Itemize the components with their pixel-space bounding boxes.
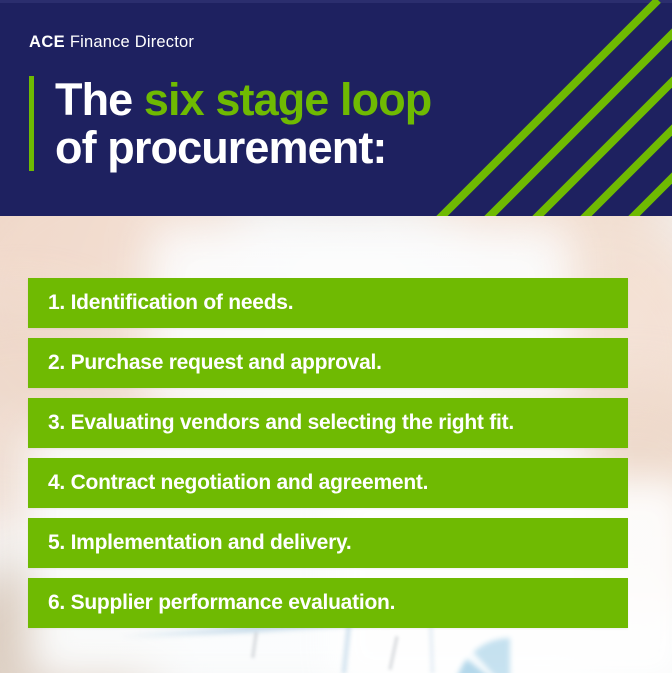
headline-line-1-accent: six stage loop <box>144 74 431 125</box>
headline-accent-bar <box>29 76 34 171</box>
list-item[interactable]: 4. Contract negotiation and agreement. <box>28 458 628 508</box>
stage-label: 4. Contract negotiation and agreement. <box>28 471 428 495</box>
headline-line-1: The six stage loop <box>55 76 431 124</box>
list-item[interactable]: 5. Implementation and delivery. <box>28 518 628 568</box>
brand-mark: ACE <box>29 33 65 51</box>
list-item[interactable]: 3. Evaluating vendors and selecting the … <box>28 398 628 448</box>
stage-label: 3. Evaluating vendors and selecting the … <box>28 411 514 435</box>
brand-subtitle: Finance Director <box>65 33 194 51</box>
headline-line-1-white: The <box>55 74 144 125</box>
page-title: The six stage loop of procurement: <box>55 76 431 171</box>
headline-line-2: of procurement: <box>55 124 431 172</box>
list-item[interactable]: 6. Supplier performance evaluation. <box>28 578 628 628</box>
list-item[interactable]: 1. Identification of needs. <box>28 278 628 328</box>
header-banner: ACE Finance Director The six stage loop … <box>0 0 672 216</box>
list-item[interactable]: 2. Purchase request and approval. <box>28 338 628 388</box>
brand-lockup: ACE Finance Director <box>29 33 194 52</box>
stage-label: 6. Supplier performance evaluation. <box>28 591 395 615</box>
headline-block: The six stage loop of procurement: <box>29 76 431 171</box>
diagonal-stripes-decoration <box>422 0 672 216</box>
stage-label: 2. Purchase request and approval. <box>28 351 382 375</box>
stage-label: 5. Implementation and delivery. <box>28 531 351 555</box>
procurement-infographic-poster: ACE Finance Director The six stage loop … <box>0 0 672 673</box>
stage-list: 1. Identification of needs. 2. Purchase … <box>28 278 628 628</box>
stage-label: 1. Identification of needs. <box>28 291 293 315</box>
header-top-hairline <box>0 0 672 3</box>
